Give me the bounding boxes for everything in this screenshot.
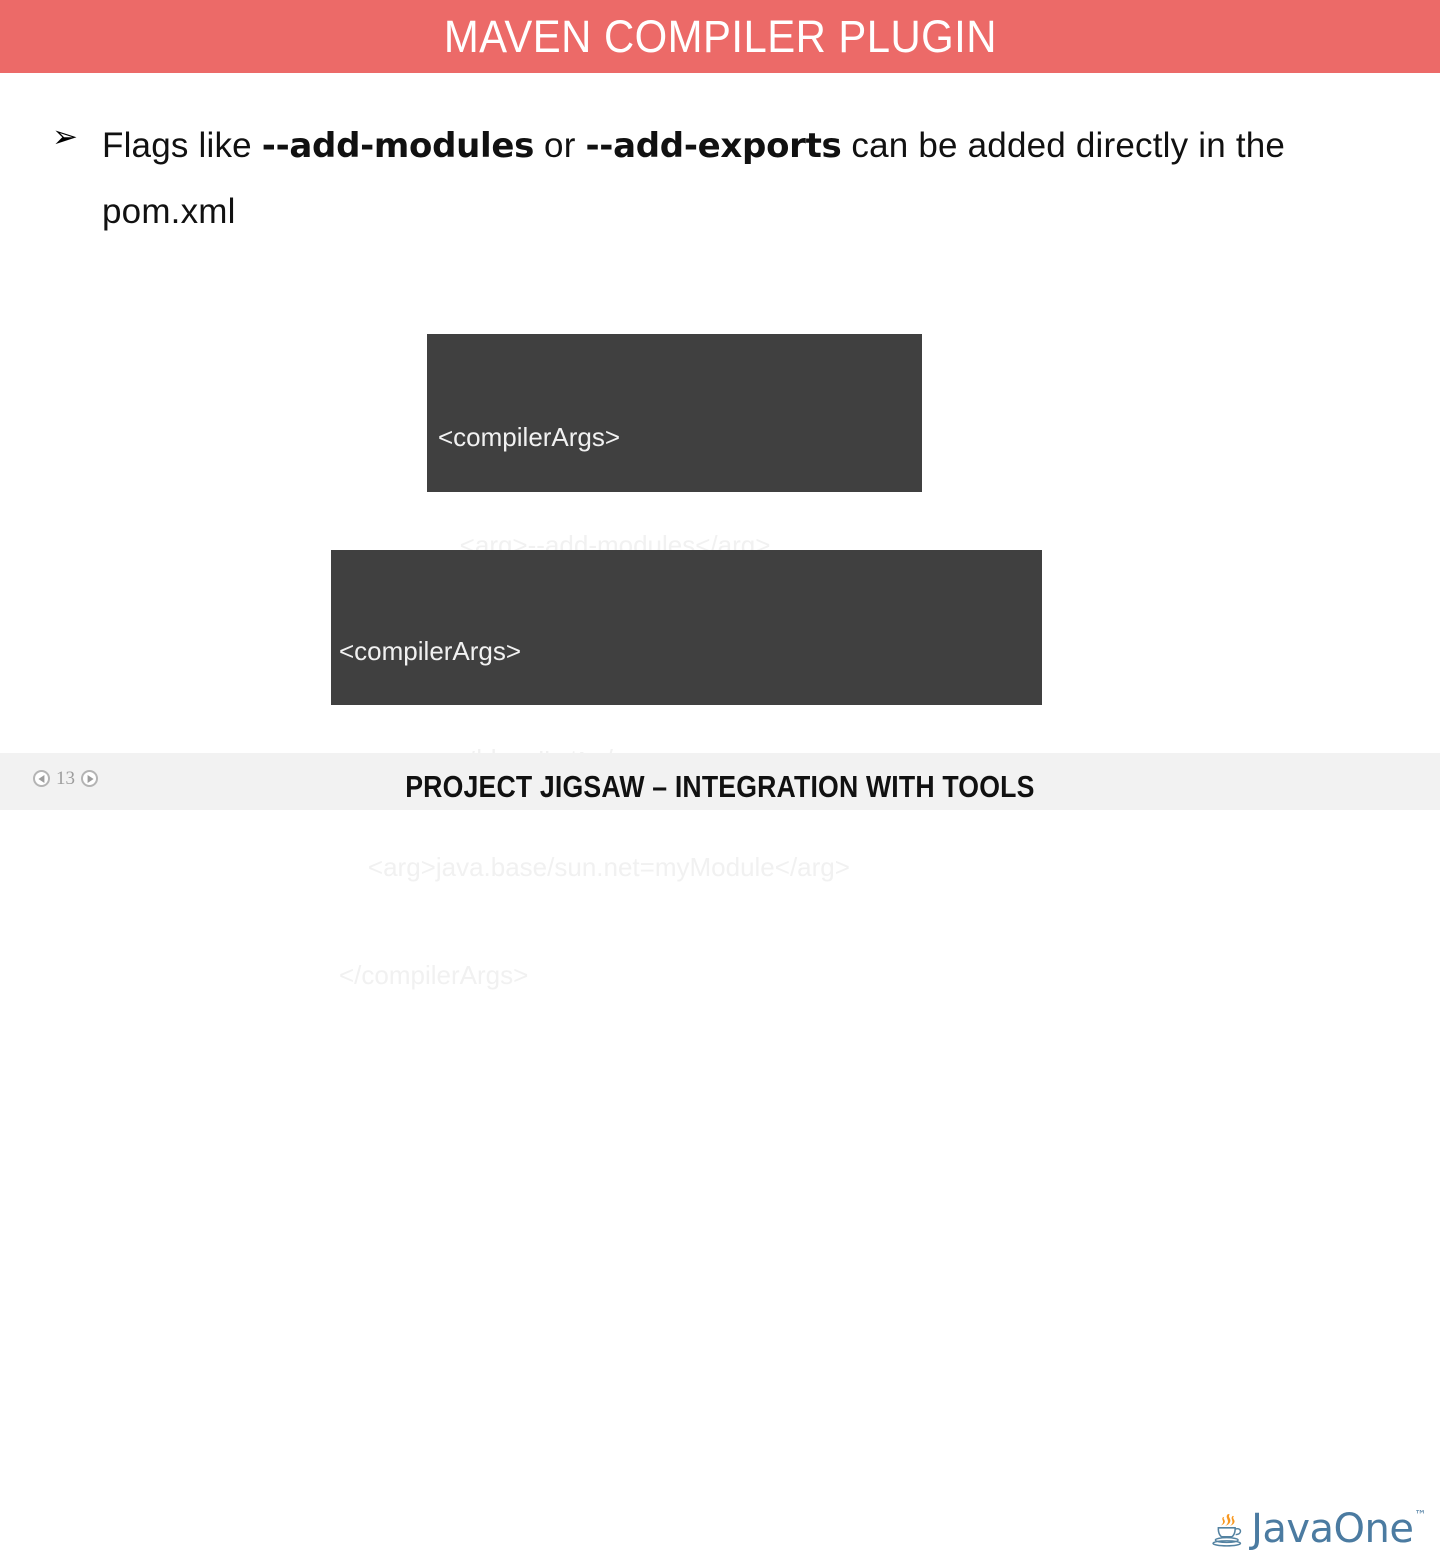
javaone-logo: JavaOne™ xyxy=(1210,1498,1425,1560)
bullet-item: ➢ Flags like --add-modules or --add-expo… xyxy=(52,113,1392,245)
code-line: <arg>java.base/sun.net=myModule</arg> xyxy=(339,849,1042,885)
footer-title-text: PROJECT JIGSAW – INTEGRATION WITH TOOLS xyxy=(405,769,1034,805)
bullet-segment-0: Flags like xyxy=(102,126,262,165)
code-block-add-exports: <compilerArgs> <arg>--add-exports</arg> … xyxy=(331,550,1042,705)
slide-navigation: 13 xyxy=(33,769,98,788)
javaone-wordmark-text: JavaOne xyxy=(1251,1506,1413,1552)
code-line: </compilerArgs> xyxy=(339,957,1042,993)
previous-slide-icon[interactable] xyxy=(33,770,50,787)
flag-add-exports: --add-exports xyxy=(585,126,841,166)
flag-add-modules: --add-modules xyxy=(262,126,534,166)
slide-content: ➢ Flags like --add-modules or --add-expo… xyxy=(0,73,1440,753)
arrow-bullet-icon: ➢ xyxy=(52,120,86,154)
javaone-wordmark: JavaOne™ xyxy=(1251,1509,1425,1549)
bullet-segment-2: or xyxy=(534,126,585,165)
page-title: MAVEN COMPILER PLUGIN xyxy=(443,14,996,59)
java-coffee-cup-icon xyxy=(1210,1500,1247,1558)
slide-header-bar: MAVEN COMPILER PLUGIN xyxy=(0,0,1440,73)
trademark-symbol: ™ xyxy=(1415,1508,1427,1522)
code-line: <compilerArgs> xyxy=(438,419,922,455)
bullet-text: Flags like --add-modules or --add-export… xyxy=(102,113,1392,245)
code-block-add-modules: <compilerArgs> <arg>--add-modules</arg> … xyxy=(427,334,922,492)
slide-number: 13 xyxy=(56,769,75,788)
next-slide-icon[interactable] xyxy=(81,770,98,787)
slide-footer-bar: 13 PROJECT JIGSAW – INTEGRATION WITH TOO… xyxy=(0,753,1440,810)
footer-title: PROJECT JIGSAW – INTEGRATION WITH TOOLS xyxy=(0,753,1440,810)
code-line: <compilerArgs> xyxy=(339,633,1042,669)
